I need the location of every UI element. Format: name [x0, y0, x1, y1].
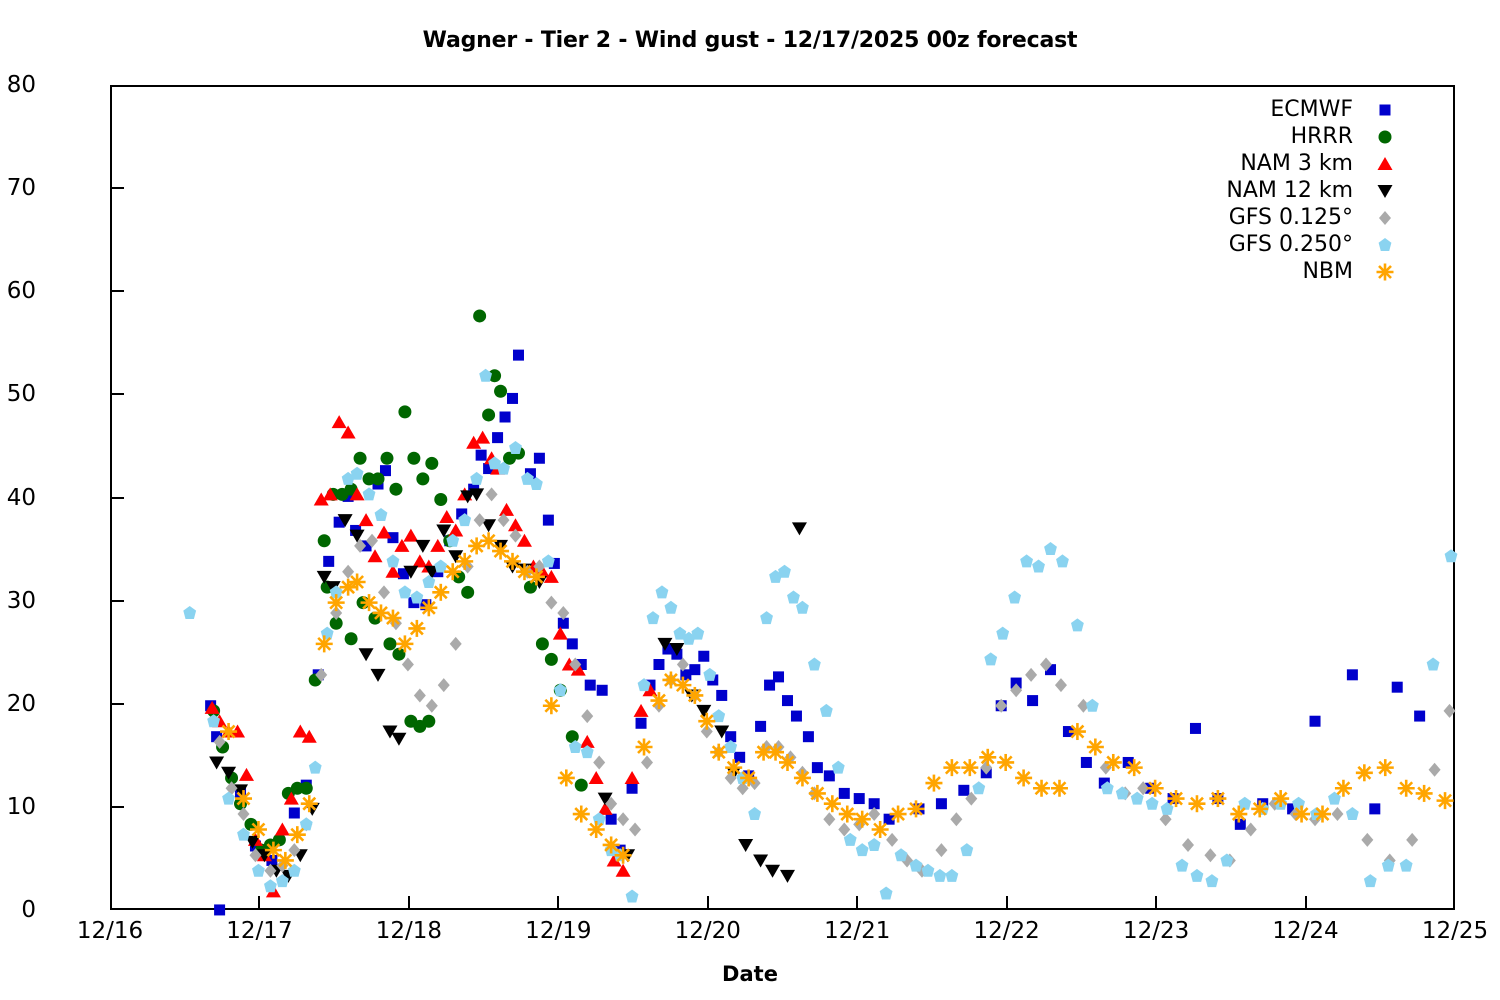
data-point — [528, 568, 545, 585]
data-point — [696, 705, 711, 718]
x-axis-tick-mark — [856, 896, 858, 910]
data-point — [890, 806, 907, 823]
data-point — [698, 651, 709, 662]
data-point — [1190, 723, 1201, 734]
data-point — [509, 441, 522, 454]
data-point — [972, 781, 985, 794]
legend-item-gfs-0-125[interactable]: GFS 0.125° — [1180, 204, 1395, 231]
data-point — [710, 744, 727, 761]
legend-marker-square-icon — [1375, 100, 1395, 120]
data-point — [791, 711, 802, 722]
series-gfs-0-250 — [183, 369, 1457, 903]
data-point — [1356, 764, 1373, 781]
y-axis-tick-mark — [110, 806, 124, 808]
data-point — [997, 754, 1014, 771]
x-axis-tick-mark — [258, 896, 260, 910]
data-point — [1131, 792, 1144, 805]
data-point — [1361, 833, 1373, 847]
data-point — [740, 769, 757, 786]
data-point — [1346, 807, 1359, 820]
data-point — [486, 487, 498, 501]
data-point — [824, 795, 841, 812]
data-point — [250, 821, 267, 838]
data-point — [222, 792, 235, 805]
data-point — [332, 415, 347, 428]
data-point — [1147, 780, 1164, 797]
data-point — [597, 685, 608, 696]
data-point — [376, 526, 391, 539]
data-point — [1400, 859, 1413, 872]
data-point — [293, 725, 308, 738]
data-point — [354, 452, 367, 465]
data-point — [1071, 618, 1084, 631]
data-point — [725, 759, 742, 776]
data-point — [854, 793, 865, 804]
data-point — [434, 493, 447, 506]
y-axis-tick-mark — [110, 187, 124, 189]
data-point — [1182, 838, 1194, 852]
data-point — [1310, 716, 1321, 727]
legend-item-label: HRRR — [1291, 124, 1353, 149]
y-axis-tick-mark — [110, 600, 124, 602]
legend-marker-triangle-up-icon — [1375, 154, 1395, 174]
x-axis-tick-label: 12/25 — [1422, 918, 1488, 944]
data-point — [773, 671, 784, 682]
data-point — [543, 697, 560, 714]
data-point — [183, 606, 196, 619]
data-point — [1230, 806, 1247, 823]
data-point — [1398, 780, 1415, 797]
data-point — [650, 692, 667, 709]
series-nam-3-km — [205, 415, 658, 897]
data-point — [936, 798, 947, 809]
legend-item-hrrr[interactable]: HRRR — [1180, 123, 1395, 150]
data-point — [1206, 874, 1219, 887]
data-point — [499, 503, 514, 516]
data-point — [1008, 590, 1021, 603]
y-axis-tick-label: 70 — [0, 175, 36, 201]
x-axis-tick-label: 12/23 — [1123, 918, 1189, 944]
y-axis-tick-label: 0 — [0, 897, 36, 923]
data-point — [593, 755, 605, 769]
data-point — [214, 904, 225, 915]
data-point — [803, 731, 814, 742]
data-point — [439, 510, 454, 523]
data-point — [482, 408, 495, 421]
x-axis-tick-mark — [1155, 896, 1157, 910]
data-point — [494, 385, 507, 398]
data-point — [629, 823, 641, 837]
legend-item-label: ECMWF — [1270, 97, 1353, 122]
data-point — [402, 658, 414, 672]
data-point — [1087, 739, 1104, 756]
legend-item-label: NAM 12 km — [1226, 178, 1353, 203]
data-point — [323, 556, 334, 567]
data-point — [407, 452, 420, 465]
data-point — [844, 833, 857, 846]
data-point — [492, 432, 503, 443]
data-point — [895, 848, 908, 861]
data-point — [422, 715, 435, 728]
data-point — [880, 886, 893, 899]
data-point — [1055, 678, 1067, 692]
data-point — [415, 540, 430, 553]
data-point — [779, 754, 796, 771]
data-point — [1056, 554, 1069, 567]
data-point — [589, 771, 604, 784]
data-point — [653, 659, 664, 670]
data-point — [1272, 790, 1289, 807]
y-axis-tick-label: 10 — [0, 794, 36, 820]
data-point — [961, 759, 978, 776]
legend-marker-asterisk-icon — [1375, 262, 1395, 282]
data-point — [359, 513, 374, 526]
data-point — [925, 775, 942, 792]
data-point — [960, 843, 973, 856]
data-point — [575, 779, 588, 792]
data-point — [403, 529, 418, 542]
data-point — [686, 687, 703, 704]
x-axis-tick-label: 12/16 — [77, 918, 143, 944]
data-point — [309, 761, 322, 774]
data-point — [908, 800, 925, 817]
data-point — [1335, 780, 1352, 797]
data-point — [1245, 823, 1257, 837]
legend-item-label: NBM — [1302, 259, 1353, 284]
data-point — [438, 678, 450, 692]
x-axis-tick-mark — [707, 896, 709, 910]
data-point — [220, 723, 237, 740]
legend-item-label: GFS 0.250° — [1229, 232, 1353, 257]
y-axis-tick-label: 60 — [0, 278, 36, 304]
data-point — [545, 653, 558, 666]
data-point — [823, 812, 835, 826]
data-point — [872, 821, 889, 838]
data-point — [380, 452, 393, 465]
data-point — [1427, 658, 1440, 671]
data-point — [1032, 560, 1045, 573]
data-point — [839, 806, 856, 823]
data-point — [235, 790, 252, 807]
data-point — [345, 632, 358, 645]
data-point — [1392, 682, 1403, 693]
data-point — [1126, 759, 1143, 776]
y-axis-tick-label: 30 — [0, 588, 36, 614]
data-point — [456, 553, 473, 570]
data-point — [1069, 723, 1086, 740]
data-point — [1168, 790, 1185, 807]
legend-marker-triangle-down-icon — [1375, 181, 1395, 201]
data-point — [979, 749, 996, 766]
x-axis-tick-label: 12/21 — [824, 918, 890, 944]
data-point — [470, 472, 483, 485]
y-axis-tick-label: 50 — [0, 381, 36, 407]
series-nam-12-km — [209, 488, 807, 883]
data-point — [554, 683, 567, 696]
data-point — [581, 709, 593, 723]
data-point — [318, 534, 331, 547]
data-point — [943, 759, 960, 776]
data-point — [542, 554, 555, 567]
data-point — [1015, 769, 1032, 786]
data-point — [349, 574, 366, 591]
y-axis-tick-mark — [110, 393, 124, 395]
data-point — [328, 594, 345, 611]
data-point — [513, 350, 524, 361]
legend-marker-diamond-icon — [1375, 208, 1395, 228]
data-point — [396, 635, 413, 652]
data-markers-layer — [112, 87, 412, 237]
data-point — [738, 839, 753, 852]
data-point — [615, 847, 632, 864]
data-point — [425, 457, 438, 470]
data-point — [1406, 833, 1418, 847]
data-point — [820, 704, 833, 717]
legend-item-gfs-0-250[interactable]: GFS 0.250° — [1180, 231, 1395, 258]
data-point — [634, 704, 649, 717]
data-point — [868, 838, 881, 851]
data-point — [1437, 792, 1454, 809]
data-point — [316, 635, 333, 652]
data-point — [625, 771, 640, 784]
data-point — [778, 565, 791, 578]
data-point — [585, 680, 596, 691]
data-point — [647, 611, 660, 624]
data-point — [351, 467, 364, 480]
data-point — [1033, 780, 1050, 797]
data-point — [1292, 797, 1305, 810]
data-point — [984, 652, 997, 665]
data-point — [543, 515, 554, 526]
data-point — [275, 823, 290, 836]
data-point — [958, 785, 969, 796]
x-axis-tick-label: 12/18 — [376, 918, 442, 944]
data-point — [1369, 803, 1380, 814]
data-point — [416, 472, 429, 485]
legend-item-nbm[interactable]: NBM — [1180, 258, 1395, 285]
x-axis-label: Date — [0, 962, 1500, 986]
data-point — [748, 807, 761, 820]
chart-title: Wagner - Tier 2 - Wind gust - 12/17/2025… — [0, 28, 1500, 53]
x-axis-tick-mark — [557, 896, 559, 910]
x-axis-tick-label: 12/24 — [1272, 918, 1338, 944]
data-point — [996, 627, 1009, 640]
data-point — [1044, 542, 1057, 555]
data-point — [617, 812, 629, 826]
data-point — [641, 755, 653, 769]
data-point — [372, 472, 385, 485]
data-point — [691, 627, 704, 640]
y-axis-tick-label: 20 — [0, 691, 36, 717]
data-point — [507, 393, 518, 404]
data-point — [264, 879, 277, 892]
x-axis-tick-label: 12/17 — [226, 918, 292, 944]
chart-legend: ECMWFHRRRNAM 3 kmNAM 12 kmGFS 0.125°GFS … — [1180, 96, 1395, 285]
data-point — [796, 601, 809, 614]
data-point — [500, 412, 511, 423]
data-point — [430, 539, 445, 552]
data-point — [780, 870, 795, 883]
data-point — [1191, 869, 1204, 882]
data-point — [289, 826, 306, 843]
data-point — [856, 843, 869, 856]
data-point — [755, 721, 766, 732]
data-point — [378, 585, 390, 599]
data-point — [1429, 763, 1441, 777]
data-point — [765, 865, 780, 878]
data-point — [408, 620, 425, 637]
data-point — [1105, 754, 1122, 771]
data-point — [301, 795, 318, 812]
legend-item-label: GFS 0.125° — [1229, 205, 1353, 230]
data-point — [1209, 790, 1226, 807]
data-point — [792, 522, 807, 535]
data-point — [398, 405, 411, 418]
data-point — [414, 688, 426, 702]
data-point — [636, 718, 647, 729]
data-point — [410, 590, 423, 603]
x-axis-tick-label: 12/22 — [974, 918, 1040, 944]
data-point — [689, 664, 700, 675]
y-axis-tick-label: 40 — [0, 485, 36, 511]
data-point — [1204, 848, 1216, 862]
data-point — [545, 596, 557, 610]
data-point — [787, 590, 800, 603]
x-axis-tick-mark — [408, 896, 410, 910]
data-point — [375, 508, 388, 521]
data-point — [934, 869, 947, 882]
data-point — [252, 864, 265, 877]
data-point — [950, 812, 962, 826]
data-point — [432, 584, 449, 601]
data-point — [321, 627, 334, 640]
data-point — [716, 690, 727, 701]
data-point — [627, 783, 638, 794]
legend-marker-hexagon-icon — [1375, 235, 1395, 255]
data-point — [1086, 699, 1099, 712]
data-point — [1414, 711, 1425, 722]
data-point — [1364, 874, 1377, 887]
y-axis-tick-label: 80 — [0, 72, 36, 98]
data-point — [239, 768, 254, 781]
data-point — [812, 762, 823, 773]
data-point — [1314, 806, 1331, 823]
data-point — [1081, 757, 1092, 768]
data-point — [359, 648, 374, 661]
data-point — [1293, 806, 1310, 823]
legend-marker-circle-icon — [1375, 127, 1395, 147]
data-point — [426, 699, 438, 713]
data-point — [473, 309, 486, 322]
legend-item-nam-3-km[interactable]: NAM 3 km — [1180, 150, 1395, 177]
data-point — [450, 637, 462, 651]
data-point — [534, 453, 545, 464]
data-point — [808, 658, 821, 671]
x-axis-tick-label: 12/19 — [525, 918, 591, 944]
data-point — [1188, 795, 1205, 812]
data-point — [1051, 780, 1068, 797]
data-point — [606, 814, 617, 825]
data-point — [839, 788, 850, 799]
legend-item-nam-12-km[interactable]: NAM 12 km — [1180, 177, 1395, 204]
y-axis-tick-mark — [110, 703, 124, 705]
data-point — [698, 713, 715, 730]
data-point — [1377, 759, 1394, 776]
x-axis-tick-label: 12/20 — [675, 918, 741, 944]
data-point — [1025, 668, 1037, 682]
data-point — [935, 843, 947, 857]
data-point — [1027, 695, 1038, 706]
data-point — [809, 785, 826, 802]
data-point — [476, 450, 487, 461]
y-axis-tick-mark — [110, 497, 124, 499]
data-point — [1251, 800, 1268, 817]
data-point — [945, 869, 958, 882]
data-point — [289, 808, 300, 819]
data-point — [794, 769, 811, 786]
data-point — [1331, 807, 1343, 821]
data-point — [734, 752, 745, 763]
data-point — [1146, 797, 1159, 810]
legend-item-label: NAM 3 km — [1240, 151, 1353, 176]
data-point — [474, 513, 486, 527]
data-point — [461, 586, 474, 599]
data-point — [854, 811, 871, 828]
series-ecmwf — [205, 350, 1425, 916]
data-point — [824, 770, 835, 781]
data-point — [703, 668, 716, 681]
data-point — [387, 554, 400, 567]
data-point — [383, 637, 396, 650]
data-point — [391, 733, 406, 746]
data-point — [475, 431, 490, 444]
data-point — [536, 637, 549, 650]
data-point — [277, 852, 294, 869]
data-point — [567, 638, 578, 649]
data-point — [1020, 554, 1033, 567]
data-point — [371, 669, 386, 682]
data-point — [1416, 785, 1433, 802]
data-point — [1176, 859, 1189, 872]
data-point — [420, 599, 437, 616]
data-point — [886, 833, 898, 847]
data-point — [1347, 669, 1358, 680]
x-axis-tick-mark — [1006, 896, 1008, 910]
data-point — [782, 695, 793, 706]
series-nbm — [220, 532, 1453, 869]
data-point — [412, 554, 427, 567]
data-point — [389, 483, 402, 496]
y-axis-tick-mark — [110, 290, 124, 292]
data-point — [626, 890, 639, 903]
data-point — [399, 585, 412, 598]
data-point — [384, 610, 401, 627]
chart-root: Wagner - Tier 2 - Wind gust - 12/17/2025… — [0, 0, 1500, 1000]
x-axis-tick-mark — [1305, 896, 1307, 910]
data-point — [207, 714, 220, 727]
data-point — [588, 821, 605, 838]
data-point — [665, 601, 678, 614]
data-point — [558, 769, 575, 786]
data-point — [300, 782, 313, 795]
data-point — [656, 585, 669, 598]
data-point — [636, 739, 653, 756]
data-point — [479, 369, 492, 382]
data-point — [1238, 797, 1251, 810]
data-point — [832, 761, 845, 774]
data-point — [573, 806, 590, 823]
legend-item-ecmwf[interactable]: ECMWF — [1180, 96, 1395, 123]
